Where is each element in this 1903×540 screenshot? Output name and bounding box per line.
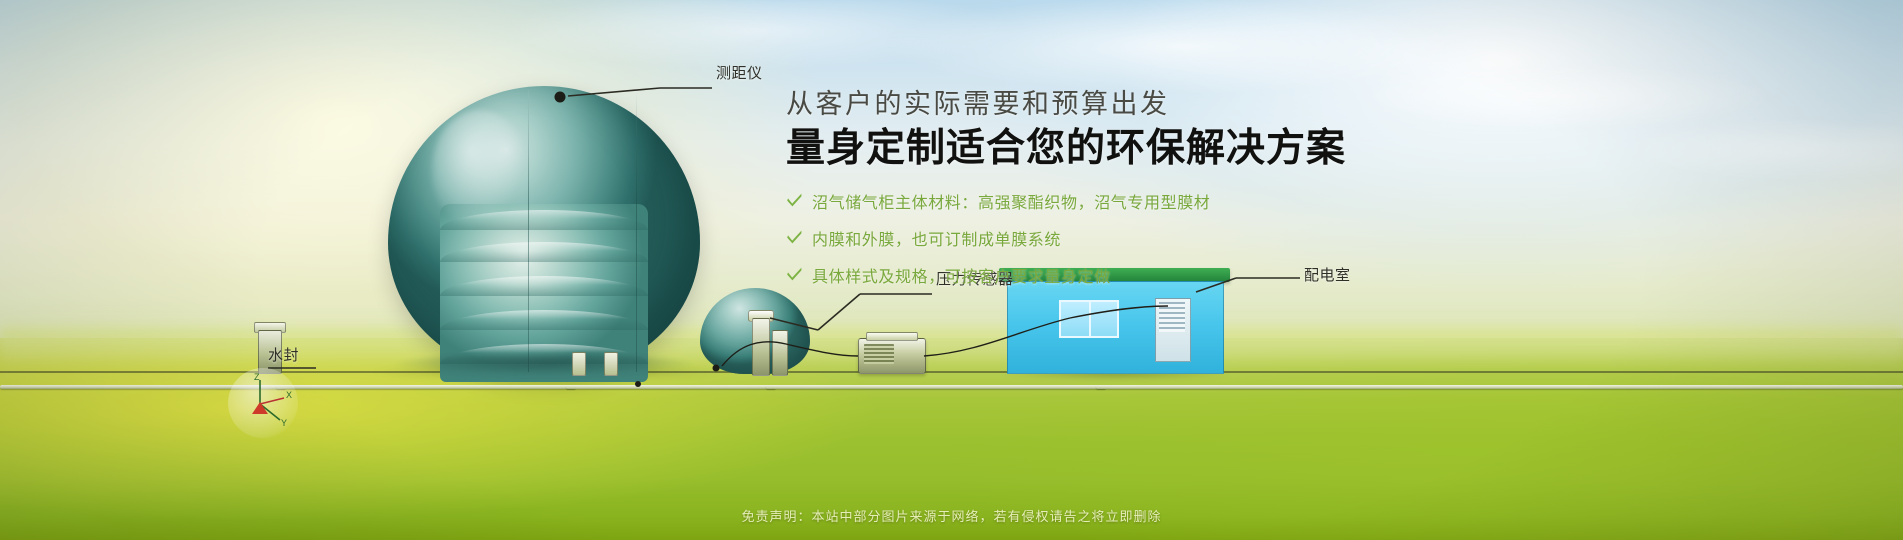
label-water-seal: 水封 — [268, 344, 299, 365]
svg-text:X: X — [286, 390, 292, 400]
blower-top-plate — [866, 332, 918, 341]
biogas-dome — [388, 86, 700, 376]
banner-headline: 量身定制适合您的环保解决方案 — [786, 127, 1406, 171]
check-mark-icon — [786, 192, 803, 209]
membrane-fold — [440, 310, 648, 330]
list-item: 内膜和外膜，也可订制成单膜系统 — [786, 226, 1406, 250]
pipe-segment-far-right — [1096, 385, 1903, 389]
axis-orientation-gizmo: Z X Y — [228, 368, 298, 438]
pressure-sensor-column-secondary — [772, 330, 788, 376]
control-panel-display — [1159, 302, 1185, 332]
feature-bullet-list: 沼气储气柜主体材料：高强聚酯织物，沼气专用型膜材 内膜和外膜，也可订制成单膜系统… — [786, 189, 1406, 287]
pressure-sensor-column — [752, 318, 770, 376]
bullet-text: 具体样式及规格，可按客户要求量身定做 — [812, 263, 1111, 287]
dome-base-ring — [394, 354, 694, 376]
dome-seam — [636, 90, 637, 372]
dome-highlight — [432, 110, 528, 230]
bullet-text: 沼气储气柜主体材料：高强聚酯织物，沼气专用型膜材 — [812, 189, 1210, 213]
membrane-fold — [440, 242, 648, 262]
building-window — [1059, 300, 1119, 338]
valve-riser-right — [604, 352, 618, 376]
pipe-segment-to-building — [766, 385, 1106, 389]
marketing-copy-block: 从客户的实际需要和预算出发 量身定制适合您的环保解决方案 沼气储气柜主体材料：高… — [786, 82, 1406, 300]
hero-banner: 测距仪 水封 压力传感器 配电室 Z X Y 从客户的实际需要和预算出发 量身定… — [0, 0, 1903, 540]
pipe-segment-right — [566, 385, 776, 389]
svg-text:Y: Y — [281, 418, 287, 428]
dome-seam — [528, 90, 529, 372]
banner-subtitle: 从客户的实际需要和预算出发 — [786, 82, 1406, 121]
check-mark-icon — [786, 229, 803, 246]
label-rangefinder: 测距仪 — [716, 62, 763, 83]
bullet-text: 内膜和外膜，也可订制成单膜系统 — [812, 226, 1061, 250]
disclaimer-text: 免责声明：本站中部分图片来源于网络，若有侵权请告之将立即删除 — [0, 506, 1903, 525]
check-mark-icon — [786, 266, 803, 283]
membrane-fold — [440, 276, 648, 296]
list-item: 具体样式及规格，可按客户要求量身定做 — [786, 263, 1406, 287]
svg-text:Z: Z — [254, 372, 260, 382]
valve-riser-left — [572, 352, 586, 376]
list-item: 沼气储气柜主体材料：高强聚酯织物，沼气专用型膜材 — [786, 189, 1406, 213]
blower-grill — [864, 344, 894, 364]
pipe-segment-center — [276, 385, 576, 389]
